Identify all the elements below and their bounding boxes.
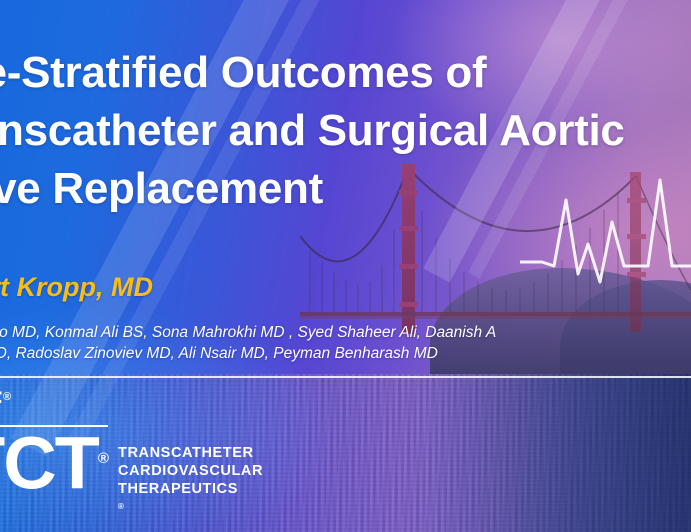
tct-text: TCT xyxy=(0,422,98,505)
crf-wordmark: RF® xyxy=(0,386,12,417)
water-shadow-right xyxy=(430,374,691,532)
slide-title-line-2: ranscatheter and Surgical Aortic xyxy=(0,102,691,160)
presenter-name: bert Kropp, MD xyxy=(0,272,153,303)
slide-title: ge-Stratified Outcomes of ranscatheter a… xyxy=(0,44,691,218)
tct-wordmark: TCT® xyxy=(0,422,109,501)
author-line-1: sa Justo MD, Konmal Ali BS, Sona Mahrokh… xyxy=(0,322,691,343)
horizontal-divider xyxy=(0,376,691,378)
slide-title-line-1: ge-Stratified Outcomes of xyxy=(0,44,691,102)
tct-word-line-3: THERAPEUTICS® xyxy=(118,480,263,520)
author-list: sa Justo MD, Konmal Ali BS, Sona Mahrokh… xyxy=(0,322,691,364)
tct-crf-logo: RF® TCT® TRANSCATHETER CARDIOVASCULAR TH… xyxy=(0,386,286,516)
tct-word-line-1: TRANSCATHETER xyxy=(118,444,263,462)
tct-words-registered-mark: ® xyxy=(118,502,125,511)
author-line-2: Ch BAO, Radoslav Zinoviev MD, Ali Nsair … xyxy=(0,343,691,364)
tct-word-line-2: CARDIOVASCULAR xyxy=(118,462,263,480)
tct-word-line-3-text: THERAPEUTICS xyxy=(118,480,263,498)
presentation-title-slide: ge-Stratified Outcomes of ranscatheter a… xyxy=(0,0,691,532)
bridge-deck-shadow xyxy=(300,316,691,319)
tct-registered-mark: ® xyxy=(98,450,109,467)
crf-registered-mark: ® xyxy=(3,391,12,403)
slide-title-line-3: alve Replacement xyxy=(0,160,691,218)
tct-full-name: TRANSCATHETER CARDIOVASCULAR THERAPEUTIC… xyxy=(118,444,263,520)
